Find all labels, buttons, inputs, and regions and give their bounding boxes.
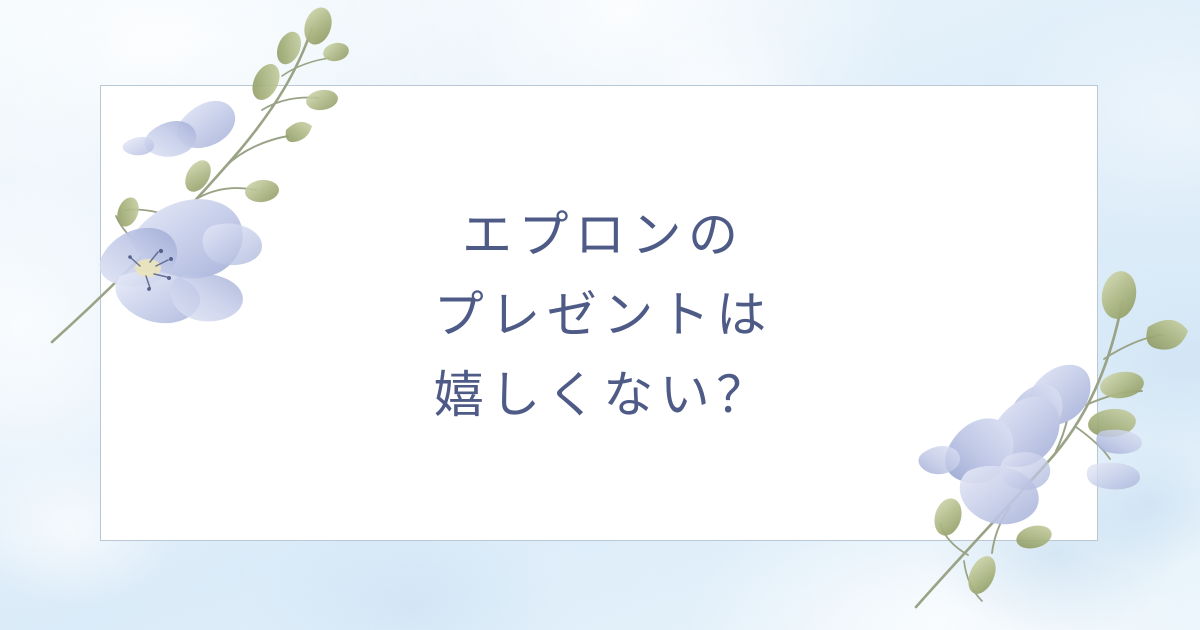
white-content-card xyxy=(100,85,1098,541)
banner-canvas: エプロンの プレゼントは 嬉しくない？ xyxy=(0,0,1200,630)
